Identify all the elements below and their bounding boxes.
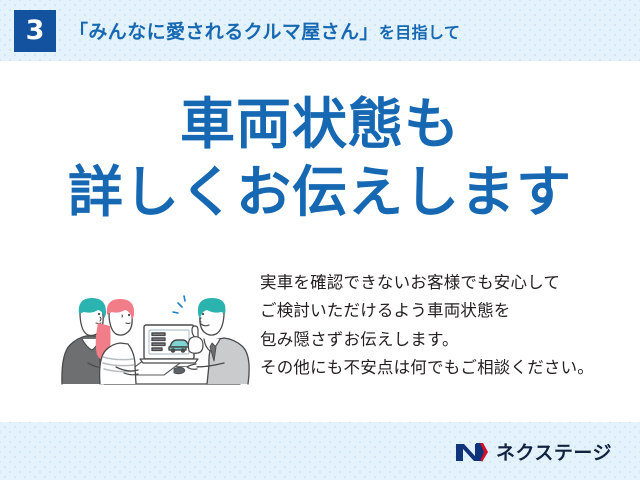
section-number-badge: 3 <box>14 10 56 52</box>
headline-line-2: 詳しくお伝えします <box>0 161 640 225</box>
header-title-quoted: 「みんなに愛されるクルマ屋さん」 <box>69 22 379 43</box>
consultation-illustration <box>52 263 252 393</box>
nextage-logo: ネクステージ <box>455 438 612 465</box>
header-band: 3 「みんなに愛されるクルマ屋さん」を目指して <box>0 0 640 61</box>
body-copy-line-3: 包み隠さずお伝えします。 <box>260 326 594 354</box>
main-content: 車両状態も 詳しくお伝えします <box>0 61 640 422</box>
slide-root: 3 「みんなに愛されるクルマ屋さん」を目指して 車両状態も 詳しくお伝えします <box>0 0 640 480</box>
body-copy-line-4: その他にも不安点は何でもご相談ください。 <box>260 354 594 382</box>
headline: 車両状態も 詳しくお伝えします <box>0 93 640 225</box>
headline-line-1: 車両状態も <box>0 93 640 157</box>
nextage-logo-text: ネクステージ <box>496 438 612 465</box>
body-copy-line-2: ご検討いただけるよう車両状態を <box>260 297 594 325</box>
body-copy: 実車を確認できないお客様でも安心して ご検討いただけるよう車両状態を 包み隠さず… <box>260 263 594 383</box>
body-copy-line-1: 実車を確認できないお客様でも安心して <box>260 269 594 297</box>
nextage-n-mark-icon <box>455 440 489 463</box>
footer-band: ネクステージ <box>0 422 640 480</box>
illustration-svg <box>52 263 252 393</box>
content-row: 実車を確認できないお客様でも安心して ご検討いただけるよう車両状態を 包み隠さず… <box>0 263 640 398</box>
header-title: 「みんなに愛されるクルマ屋さん」を目指して <box>69 17 460 44</box>
header-title-tail: を目指して <box>379 25 461 42</box>
